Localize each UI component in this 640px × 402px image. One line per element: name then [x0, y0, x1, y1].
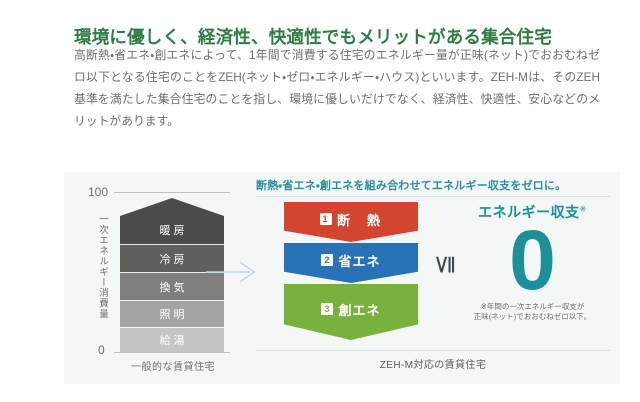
measure-step-list: 1 断 熱 2 省エネ 3 創エネ: [284, 202, 418, 340]
chart-caption: 一般的な賃貸住宅: [108, 358, 238, 373]
bar-segment-label: 給湯: [157, 332, 188, 348]
bar-segment-label: 暖房: [157, 222, 188, 238]
energy-balance-result: エネルギー収支※ 0 ※年間の一次エネルギー収支が 正味(ネット)でおおむねゼロ…: [455, 202, 610, 322]
chart-tick-top: 100: [88, 185, 108, 199]
step-label: 省エネ: [338, 251, 380, 270]
footnote-mark: ※: [580, 204, 587, 213]
bar-roof-shape: [120, 198, 224, 216]
panel-title: 断熱・省エネ・創エネを組み合わせてエネルギー収支をゼロに。: [256, 177, 566, 193]
chart-tick-line-top: [114, 192, 230, 193]
bar-segment-label: 換気: [157, 279, 188, 295]
energy-balance-footnote: ※年間の一次エネルギー収支が 正味(ネット)でおおむねゼロ以下。: [455, 302, 610, 322]
panel-divider-top: [256, 196, 610, 197]
footnote-line-2: 正味(ネット)でおおむねゼロ以下。: [455, 312, 610, 322]
chart-axis-label: 一次エネルギー消費量: [94, 214, 108, 319]
energy-balance-value: 0: [455, 224, 610, 296]
step-number-badge: 1: [320, 213, 332, 225]
footnote-line-1: ※年間の一次エネルギー収支が: [455, 302, 610, 312]
figure-panel: 一次エネルギー消費量 100 0 暖房 冷房 換気 照明: [64, 172, 620, 384]
panel-divider-bottom: [256, 350, 610, 351]
step-label: 創エネ: [338, 300, 380, 319]
bar-segment-heating: 暖房: [120, 216, 224, 244]
measure-step-energy-creation: 3 創エネ: [284, 284, 418, 340]
bar-segment-label: 冷房: [157, 251, 188, 267]
bar-segment-lighting: 照明: [120, 300, 224, 327]
less-than-equal-symbol: ≦: [429, 254, 458, 275]
step-label: 断 熱: [337, 210, 382, 229]
step-number-badge: 3: [321, 303, 333, 315]
body-paragraph: 高断熱・省エネ・創エネによって、1年間で消費する住宅のエネルギー量が正味(ネット…: [74, 44, 600, 132]
body-text: 高断熱・省エネ・創エネによって、1年間で消費する住宅のエネルギー量が正味(ネット…: [74, 44, 600, 132]
chart-tick-line-bottom: [114, 352, 230, 353]
zeh-measures-panel: 断熱・省エネ・創エネを組み合わせてエネルギー収支をゼロに。 1 断 熱 2 省エ…: [250, 172, 618, 384]
step-number-badge: 2: [321, 254, 333, 266]
measure-step-energy-saving: 2 省エネ: [284, 243, 418, 283]
panel-caption: ZEH-M対応の賃貸住宅: [256, 356, 610, 371]
bar-segment-label: 照明: [157, 306, 188, 322]
chart-tick-bottom: 0: [98, 343, 105, 357]
measure-step-insulation: 1 断 熱: [284, 202, 418, 242]
page-root: 環境に優しく、経済性、快適性でもメリットがある集合住宅 高断熱・省エネ・創エネに…: [0, 0, 640, 402]
bar-segment-hotwater: 給湯: [120, 327, 224, 352]
